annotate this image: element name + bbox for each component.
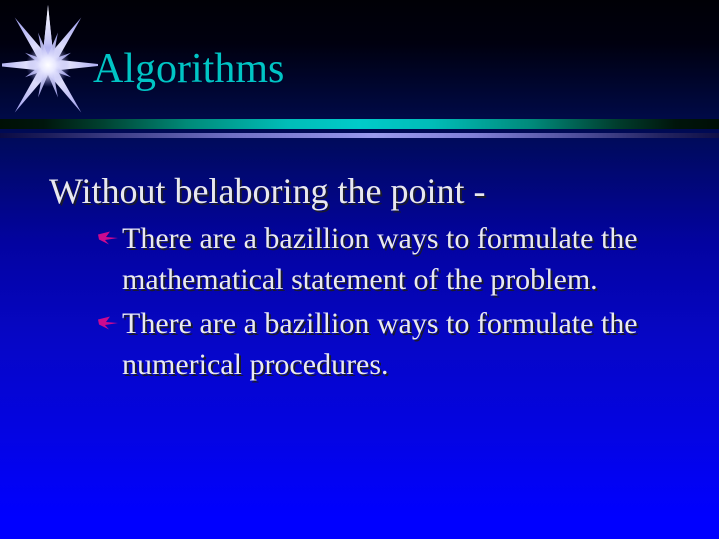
divider-bar-lavender	[0, 133, 719, 138]
list-item-label: There are a bazillion ways to formulate …	[122, 303, 642, 385]
list-item: There are a bazillion ways to formulate …	[98, 303, 678, 385]
starburst-icon	[2, 2, 98, 128]
bullet-list: There are a bazillion ways to formulate …	[98, 218, 678, 388]
arrow-bullet-icon	[98, 231, 118, 245]
arrow-bullet-icon	[98, 316, 118, 330]
list-item-label: There are a bazillion ways to formulate …	[122, 218, 642, 300]
lead-line: Without belaboring the point -	[49, 169, 485, 213]
list-item: There are a bazillion ways to formulate …	[98, 218, 678, 300]
divider-bar-teal	[0, 119, 719, 129]
slide-title: Algorithms	[93, 45, 284, 93]
presentation-slide: Algorithms Without belaboring the point …	[0, 0, 719, 539]
